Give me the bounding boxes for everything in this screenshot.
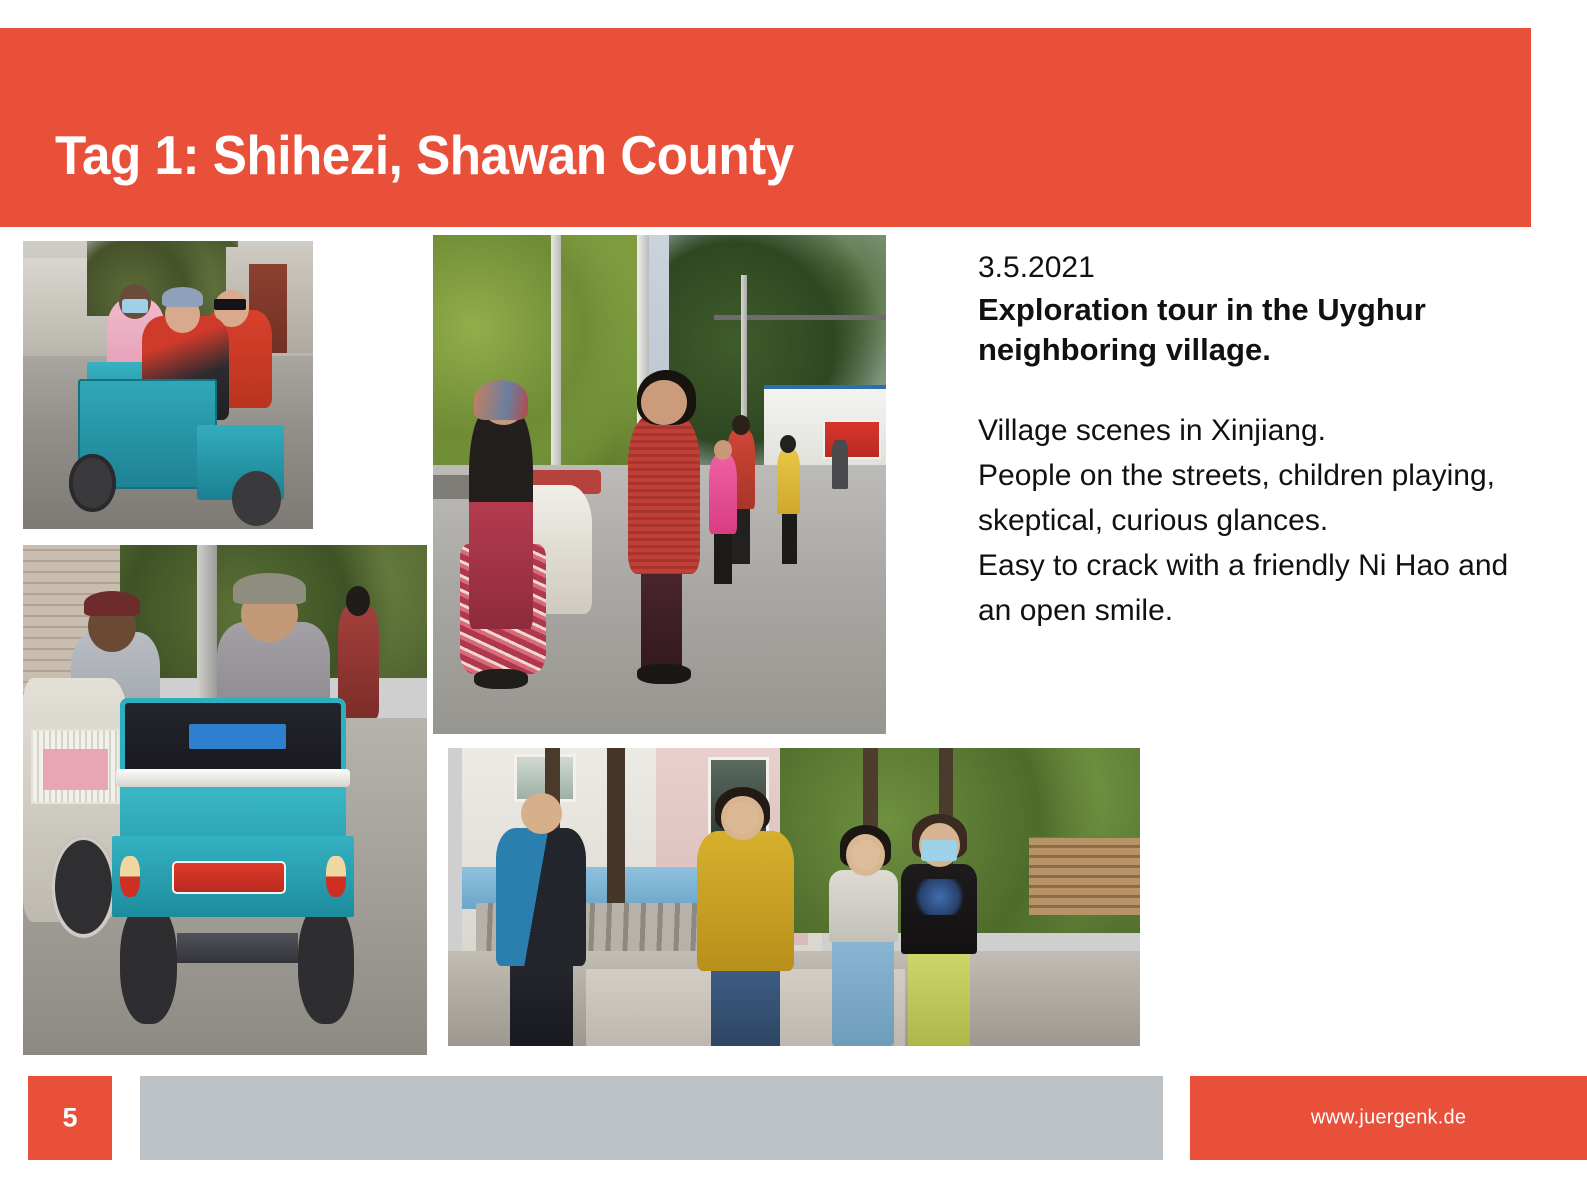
body-text: Village scenes in Xinjiang. People on th… xyxy=(978,408,1538,633)
woman-red-dress-shoes xyxy=(637,664,691,684)
photo-trike-riders-scene xyxy=(23,241,313,529)
photo-villagers-scene xyxy=(448,748,1140,1046)
basket-contents xyxy=(43,749,108,790)
cargo-rail xyxy=(116,769,350,786)
page-title: Tag 1: Shihezi, Shawan County xyxy=(55,124,794,186)
child-right-tshirt-print xyxy=(912,879,967,915)
firewood-stack xyxy=(1029,837,1140,914)
child-yellow-head xyxy=(780,435,796,453)
photo-village-street-scene xyxy=(433,235,886,734)
child-right-face-mask xyxy=(921,840,957,861)
brand-logo-top xyxy=(189,724,286,750)
photo-village-street xyxy=(433,235,886,734)
trike-wheel-right xyxy=(298,902,355,1024)
woman-legs xyxy=(711,963,780,1046)
elder-woman-shoes xyxy=(474,669,528,689)
child-left-body xyxy=(829,870,898,942)
footer-gray-bar xyxy=(140,1076,1163,1160)
man-right-flat-cap xyxy=(233,573,306,604)
brand-badge xyxy=(172,861,285,894)
trike-axle xyxy=(177,933,298,964)
man-left-cap xyxy=(84,591,141,617)
scooter-wheel xyxy=(51,836,116,938)
taillight-left xyxy=(120,856,140,897)
elder-woman-headscarf xyxy=(474,380,528,420)
adult-red-head xyxy=(732,415,750,435)
rider-right-sunglasses xyxy=(214,299,246,311)
rider-left-mask xyxy=(122,299,148,313)
elder-woman-body xyxy=(469,410,532,630)
child-yellow-legs xyxy=(782,509,797,564)
photo-trike-riders xyxy=(23,241,313,529)
woman-red-dress-head xyxy=(641,380,686,425)
rider-center-cap xyxy=(162,287,203,307)
man-legs xyxy=(510,957,572,1046)
overhead-wire xyxy=(714,315,886,320)
lead-text: Exploration tour in the Uyghur neighbori… xyxy=(978,290,1538,370)
child-left-face xyxy=(851,840,880,870)
taillight-right xyxy=(326,856,346,897)
distant-pedestrian xyxy=(832,440,848,490)
child-yellow-body xyxy=(777,450,800,515)
footer-url-label[interactable]: www.juergenk.de xyxy=(1190,1107,1587,1130)
woman-red-dress-legs xyxy=(641,564,682,674)
footer-url-block[interactable]: www.juergenk.de xyxy=(1190,1076,1587,1160)
utility-pole xyxy=(197,545,217,708)
photo-cargo-trike-scene xyxy=(23,545,427,1055)
date-text: 3.5.2021 xyxy=(978,248,1538,288)
child-pink-body xyxy=(709,455,736,535)
slide-text-column: 3.5.2021 Exploration tour in the Uyghur … xyxy=(978,248,1538,633)
trike-wheel-left xyxy=(69,454,115,512)
child-pink-legs xyxy=(714,529,732,584)
child-right-legs xyxy=(908,948,970,1046)
slide-number-label: 5 xyxy=(28,1103,112,1134)
woman-red-dress-body xyxy=(628,415,700,575)
man-body xyxy=(496,828,586,965)
child-pink-head xyxy=(714,440,732,460)
slide-number-block: 5 xyxy=(28,1076,112,1160)
trike-wheel-right xyxy=(232,471,281,526)
photo-villagers xyxy=(448,748,1140,1046)
trike-wheel-left xyxy=(120,902,177,1024)
photo-cargo-trike xyxy=(23,545,427,1055)
woman-yellow-jacket xyxy=(697,831,794,971)
